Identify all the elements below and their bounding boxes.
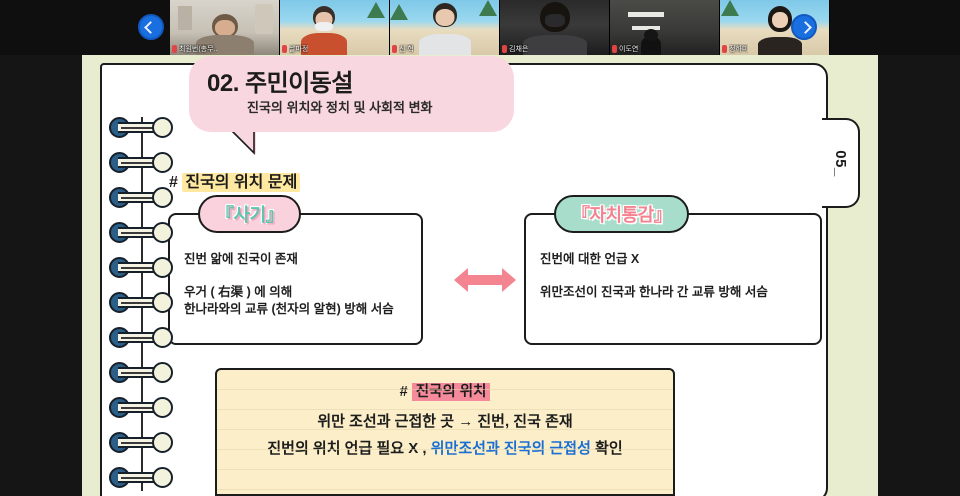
card-line: 진번 앎에 진국이 존재 [184,251,411,268]
speech-bubble-tail [230,129,264,163]
mic-muted-icon [282,45,287,53]
conclusion-line-1: 위만 조선과 근접한 곳 → 진번, 진국 존재 [217,410,673,431]
source-label-text: 『자치통감』 [572,201,671,227]
spiral-ring [109,397,173,418]
participant-name: 이도연 [619,44,638,54]
conclusion-line-2-c: 확인 [595,440,623,457]
card-line: 진번에 대한 언급 X [540,251,810,268]
source-card-jachitonggam: 『자치통감』 진번에 대한 언급 X 위만조선이 진국과 한나라 간 교류 방해… [524,213,822,345]
mic-muted-icon [172,45,177,53]
page-number-tab: 05_ [822,118,860,208]
participant-tile[interactable]: 이도연 [610,0,720,55]
participant-namebar: 최원번(총무.. [170,43,219,54]
video-filmstrip: 최원번(총무.. 날마정 [0,0,960,55]
mic-muted-icon [392,45,397,53]
participant-name: 정하미 [729,44,748,54]
mic-muted-icon [722,45,727,53]
spiral-ring [109,117,173,138]
conclusion-line-2-highlight: 위만조선과 진국의 근접성 [431,440,591,457]
spiral-ring [109,292,173,313]
spiral-ring [109,152,173,173]
card-line: 위만조선이 진국과 한나라 간 교류 방해 서슴 [540,284,810,301]
participant-name: 김채은 [509,44,528,54]
participant-name: 최원번(총무.. [179,44,217,54]
conclusion-line-2: 진번의 위치 언급 필요 X , 위만조선과 진국의 근접성 확인 [217,437,673,458]
mic-muted-icon [502,45,507,53]
source-card-body: 진번에 대한 언급 X 위만조선이 진국과 한나라 간 교류 방해 서슴 [540,251,810,301]
participant-tile[interactable]: 날마정 [280,0,390,55]
source-card-sagi: 『사기』 진번 앎에 진국이 존재 우거 ( 右渠 ) 에 의해 한나라와의 교… [168,213,423,345]
participant-tiles: 최원번(총무.. 날마정 [170,0,830,55]
participant-tile[interactable]: 김채은 [500,0,610,55]
spiral-ring [109,257,173,278]
page-number: 05_ [832,150,849,177]
source-label-pill: 『사기』 [198,195,301,233]
spiral-ring [109,222,173,243]
filmstrip-next-button[interactable] [791,14,817,40]
conclusion-heading: # 진국의 위치 [217,380,673,401]
slide-title: 02. 주민이동설 [207,63,353,98]
conclusion-box: # 진국의 위치 위만 조선과 근접한 곳 → 진번, 진국 존재 진번의 위치… [215,368,675,496]
conclusion-heading-text: 진국의 위치 [412,383,491,401]
participant-tile[interactable]: 신 혁 [390,0,500,55]
spiral-ring [109,432,173,453]
slide-subtitle: 진국의 위치와 정치 및 사회적 변화 [247,97,433,116]
participant-name: 날마정 [289,44,308,54]
participant-namebar: 이도연 [610,43,640,54]
spiral-ring [109,362,173,383]
mic-muted-icon [612,45,617,53]
card-line: 한나라와의 교류 (천자의 알현) 방해 서슴 [184,301,411,318]
participant-namebar: 날마정 [280,43,310,54]
spiral-ring [109,327,173,348]
screen: 최원번(총무.. 날마정 [0,0,960,496]
participant-namebar: 김채은 [500,43,530,54]
double-headed-arrow-icon [454,263,516,297]
spiral-ring [109,467,173,488]
section-heading: # 진국의 위치 문제 [169,168,300,192]
participant-namebar: 신 혁 [390,43,416,54]
shared-slide: 05_ 02. 주민이동설 진국의 위치와 정치 및 사회적 변화 [82,55,878,496]
section-heading-text: 진국의 위치 문제 [182,173,300,192]
source-label-text: 『사기』 [216,201,283,227]
spiral-binding [104,117,178,491]
slide-title-bubble: 02. 주민이동설 진국의 위치와 정치 및 사회적 변화 [189,56,514,132]
filmstrip-prev-button[interactable] [138,14,164,40]
participant-namebar: 정하미 [720,43,750,54]
conclusion-line-2-a: 진번의 위치 언급 필요 X , [267,440,430,457]
card-line: 우거 ( 右渠 ) 에 의해 [184,284,411,301]
source-label-pill: 『자치통감』 [554,195,689,233]
spiral-ring [109,187,173,208]
conclusion-heading-prefix: # [400,384,408,400]
participant-name: 신 혁 [399,44,414,54]
participant-tile[interactable]: 최원번(총무.. [170,0,280,55]
source-card-body: 진번 앎에 진국이 존재 우거 ( 右渠 ) 에 의해 한나라와의 교류 (천자… [184,251,411,318]
